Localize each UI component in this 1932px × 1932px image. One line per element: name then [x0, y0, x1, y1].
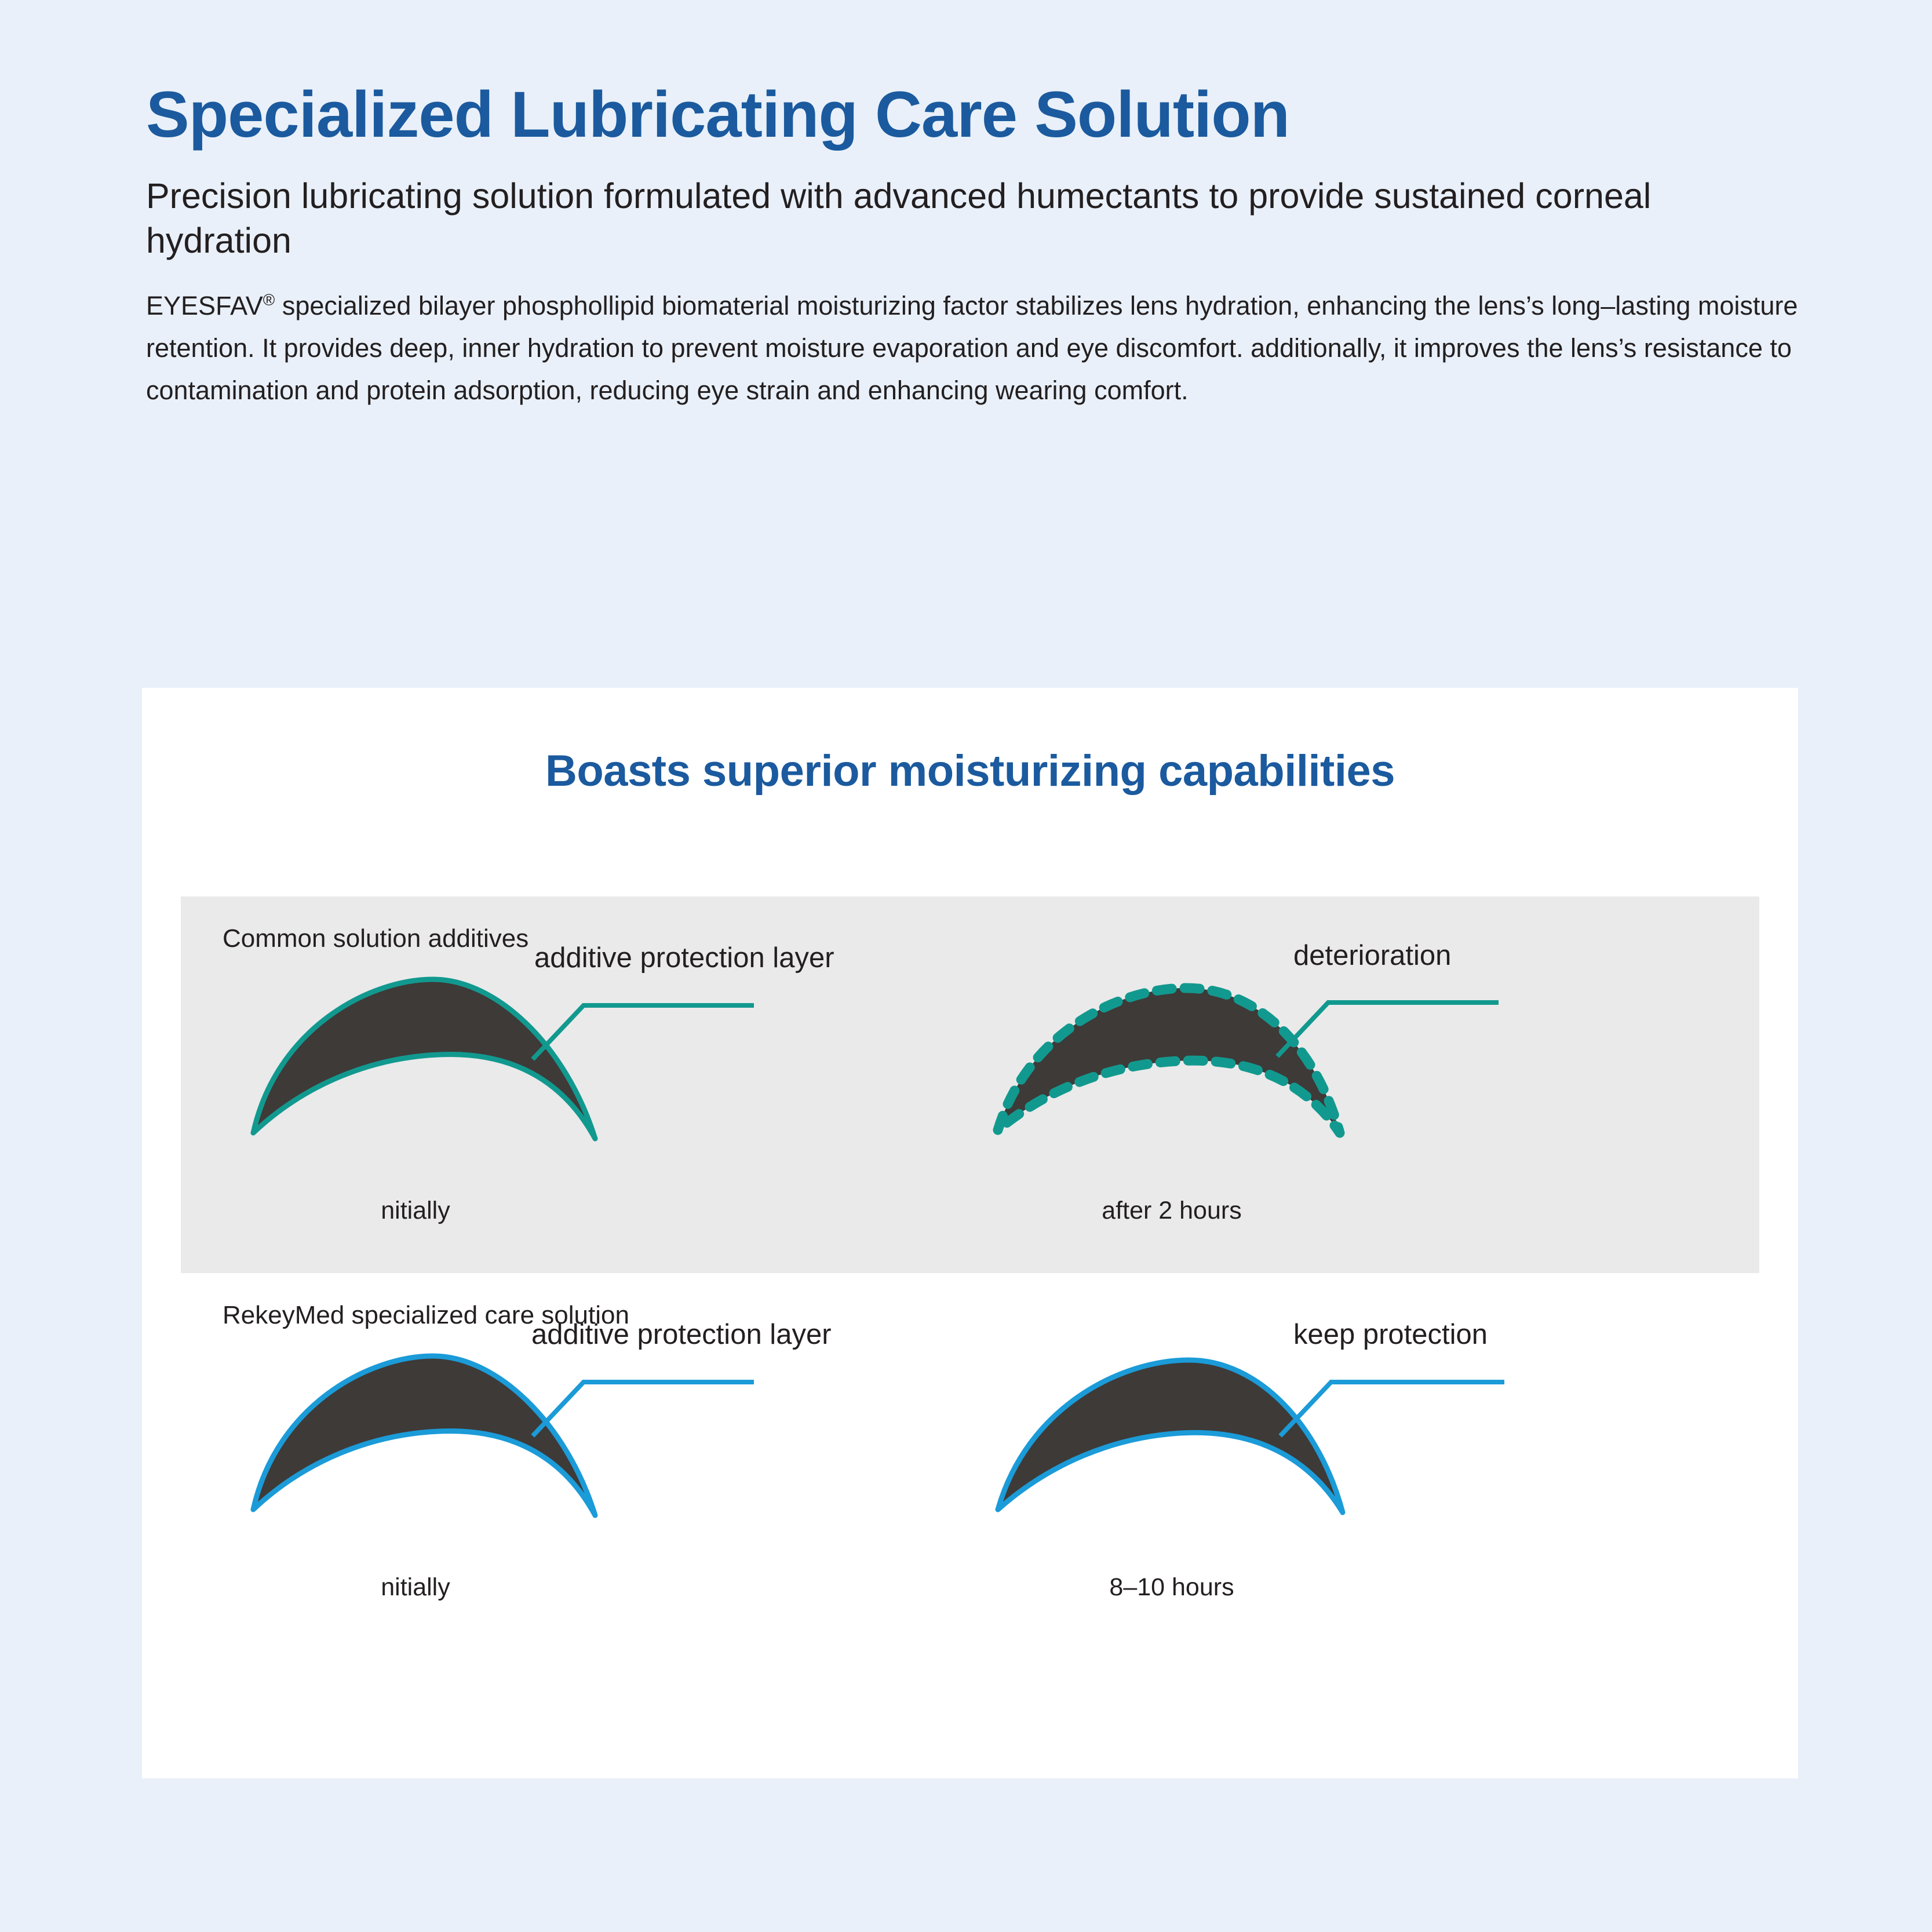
callout-deterioration: deterioration	[1293, 939, 1451, 972]
panel-rekeymed-solution: RekeyMed specialized care solution addit…	[181, 1273, 1759, 1650]
lens-caption-after-2-hours: after 2 hours	[1009, 1197, 1334, 1225]
lens-diagram-common-after: deterioration after 2 hours	[986, 947, 1751, 1260]
page-title: Specialized Lubricating Care Solution	[146, 81, 1803, 148]
lens-diagram-rekeymed-after: keep protection 8–10 hours	[986, 1324, 1751, 1637]
comparison-card: Boasts superior moisturizing capabilitie…	[142, 688, 1798, 1778]
brand-name: EYESFAV	[146, 291, 263, 320]
registered-trademark-icon: ®	[263, 291, 275, 309]
lens-shape-dashed-teal	[986, 947, 1751, 1202]
page-subtitle: Precision lubricating solution formulate…	[146, 174, 1803, 263]
page-root: Specialized Lubricating Care Solution Pr…	[0, 0, 1932, 1932]
page-description: EYESFAV® specialized bilayer phosphollip…	[146, 285, 1803, 412]
lens-shape-solid-blue-2	[986, 1324, 1751, 1579]
lens-caption-8-10-hours: 8–10 hours	[1009, 1573, 1334, 1602]
lens-diagram-common-initial: additive protection layer nitially	[242, 947, 1007, 1260]
callout-additive-protection-layer-2: additive protection layer	[531, 1318, 832, 1351]
lens-shape-solid-blue-1	[242, 1324, 1007, 1579]
panel-common-solution: Common solution additives additive prote…	[181, 896, 1759, 1273]
description-text: specialized bilayer phosphollipid biomat…	[146, 291, 1798, 405]
lens-caption-initially-1: nitially	[253, 1197, 578, 1225]
card-title: Boasts superior moisturizing capabilitie…	[142, 746, 1798, 796]
lens-shape-solid-teal	[242, 947, 1007, 1202]
callout-keep-protection: keep protection	[1293, 1318, 1488, 1351]
header-section: Specialized Lubricating Care Solution Pr…	[146, 81, 1803, 412]
lens-diagram-rekeymed-initial: additive protection layer nitially	[242, 1324, 1007, 1637]
callout-additive-protection-layer-1: additive protection layer	[534, 942, 834, 974]
lens-caption-initially-2: nitially	[253, 1573, 578, 1602]
